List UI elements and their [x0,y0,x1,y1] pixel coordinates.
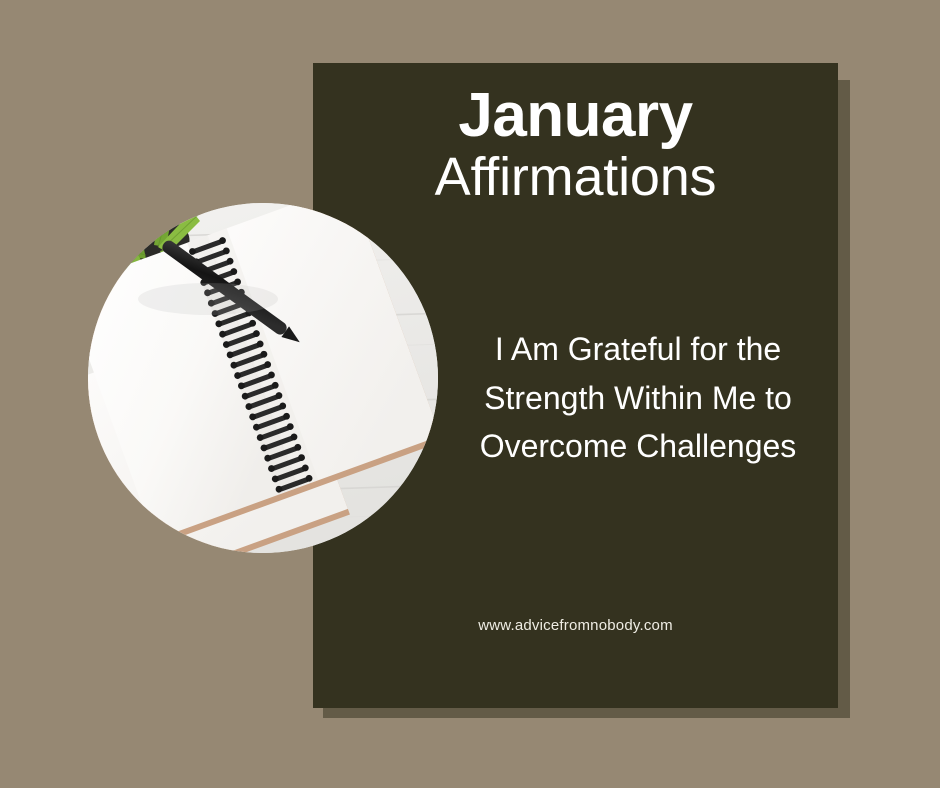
notebook-photo [88,203,438,553]
poster-canvas: January Affirmations I Am Grateful for t… [0,0,940,788]
website-url: www.advicefromnobody.com [313,617,838,634]
affirmation-text: I Am Grateful for the Strength Within Me… [443,325,833,471]
